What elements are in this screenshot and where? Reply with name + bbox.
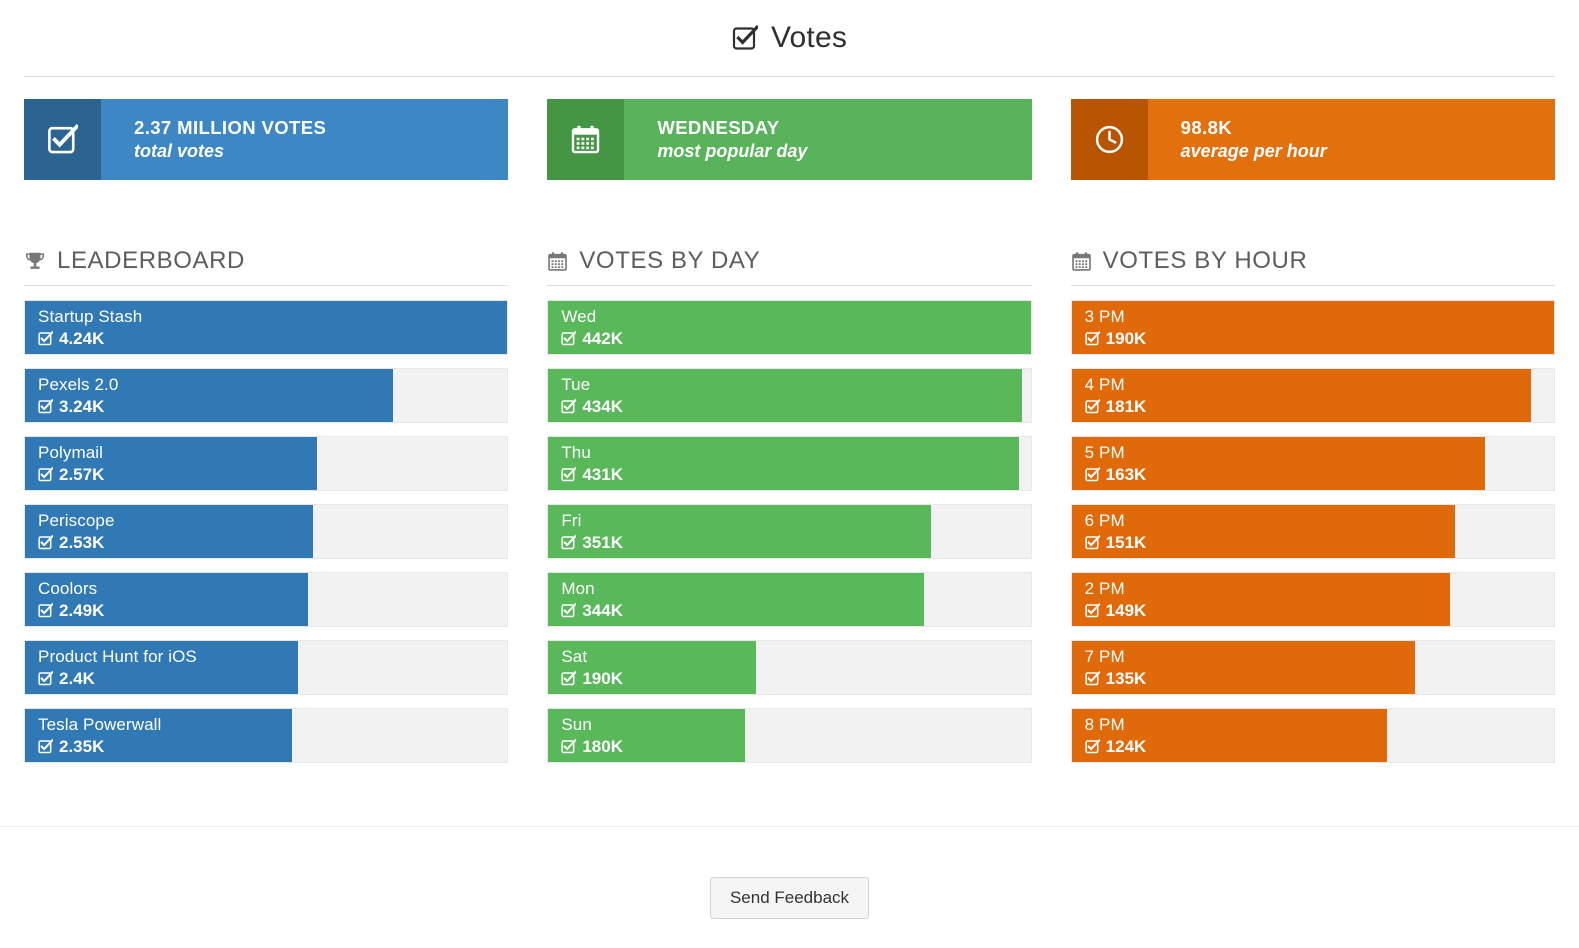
- bar-label: Polymail: [38, 442, 104, 463]
- bar-value: 163K: [1085, 464, 1147, 485]
- bar-value: 2.4K: [38, 668, 197, 689]
- charts-row: LEADERBOARD Startup Stash4.24KPexels 2.0…: [0, 202, 1579, 776]
- bar-value-text: 351K: [582, 532, 623, 553]
- checkbox-checked-icon: [38, 399, 53, 414]
- section-heading-votes-by-hour: VOTES BY HOUR: [1071, 247, 1555, 285]
- bar-text: Pexels 2.03.24K: [38, 369, 118, 422]
- checkbox-checked-icon: [1085, 535, 1100, 550]
- stat-label: total votes: [134, 140, 508, 163]
- trophy-icon: [24, 250, 46, 272]
- leaderboard-bar-row[interactable]: Pexels 2.03.24K: [24, 368, 508, 423]
- stat-card-average-per-hour: 98.8K average per hour: [1071, 99, 1555, 180]
- bar-value-text: 135K: [1106, 668, 1147, 689]
- bar-label: Fri: [561, 510, 623, 531]
- bar-label: Thu: [561, 442, 623, 463]
- bar-label: 3 PM: [1085, 306, 1147, 327]
- leaderboard-column: LEADERBOARD Startup Stash4.24KPexels 2.0…: [24, 202, 508, 776]
- checkbox-checked-icon: [561, 535, 576, 550]
- checkbox-checked-icon: [38, 467, 53, 482]
- bar-value-text: 151K: [1106, 532, 1147, 553]
- bar-label: 6 PM: [1085, 510, 1147, 531]
- bar-value: 2.57K: [38, 464, 104, 485]
- section-title: VOTES BY DAY: [579, 247, 760, 275]
- stat-label: most popular day: [657, 140, 1031, 163]
- checkbox-checked-icon: [561, 739, 576, 754]
- section-divider: [24, 285, 508, 286]
- bar-label: Wed: [561, 306, 623, 327]
- bar-value-text: 3.24K: [59, 396, 104, 417]
- checkbox-checked-icon: [38, 603, 53, 618]
- checkbox-checked-icon: [1085, 671, 1100, 686]
- bar-value-text: 2.35K: [59, 736, 104, 757]
- votes-by-hour-bar-row[interactable]: 4 PM181K: [1071, 368, 1555, 423]
- checkbox-checked-icon: [1085, 399, 1100, 414]
- stat-card-column-hour: 98.8K average per hour: [1071, 99, 1555, 180]
- bar-value-text: 2.49K: [59, 600, 104, 621]
- bar-value: 3.24K: [38, 396, 118, 417]
- bar-text: 5 PM163K: [1085, 437, 1147, 490]
- stat-card-popular-day: WEDNESDAY most popular day: [547, 99, 1031, 180]
- checkbox-checked-icon: [1085, 603, 1100, 618]
- bar-value-text: 180K: [582, 736, 623, 757]
- votes-by-hour-bar-row[interactable]: 6 PM151K: [1071, 504, 1555, 559]
- section-title: VOTES BY HOUR: [1103, 247, 1308, 275]
- calendar-icon: [1071, 251, 1092, 272]
- bar-value: 135K: [1085, 668, 1147, 689]
- leaderboard-bar-row[interactable]: Startup Stash4.24K: [24, 300, 508, 355]
- leaderboard-bar-row[interactable]: Product Hunt for iOS2.4K: [24, 640, 508, 695]
- section-title: LEADERBOARD: [57, 247, 245, 275]
- bar-label: Pexels 2.0: [38, 374, 118, 395]
- bar-label: Sun: [561, 714, 623, 735]
- bar-value: 431K: [561, 464, 623, 485]
- bar-value-text: 181K: [1106, 396, 1147, 417]
- checkbox-checked-icon: [1085, 467, 1100, 482]
- bar-text: 4 PM181K: [1085, 369, 1147, 422]
- bar-text: Sun180K: [561, 709, 623, 762]
- votes-by-day-bar-row[interactable]: Thu431K: [547, 436, 1031, 491]
- bar-value: 4.24K: [38, 328, 142, 349]
- bar-text: Product Hunt for iOS2.4K: [38, 641, 197, 694]
- bar-text: Startup Stash4.24K: [38, 301, 142, 354]
- bar-value: 149K: [1085, 600, 1147, 621]
- bar-value: 181K: [1085, 396, 1147, 417]
- footer: Send Feedback: [0, 877, 1579, 919]
- bar-label: 8 PM: [1085, 714, 1147, 735]
- bar-value-text: 190K: [1106, 328, 1147, 349]
- stat-card-column-total: 2.37 MILLION VOTES total votes: [24, 99, 508, 180]
- stat-cards-row: 2.37 MILLION VOTES total votes: [0, 99, 1579, 180]
- bar-text: 6 PM151K: [1085, 505, 1147, 558]
- checkbox-checked-icon: [561, 331, 576, 346]
- votes-by-day-bar-list: Wed442KTue434KThu431KFri351KMon344KSat19…: [547, 300, 1031, 763]
- checkbox-checked-icon: [561, 467, 576, 482]
- votes-by-day-bar-row[interactable]: Sat190K: [547, 640, 1031, 695]
- bar-label: Mon: [561, 578, 623, 599]
- bar-label: 4 PM: [1085, 374, 1147, 395]
- checkbox-checked-icon: [561, 399, 576, 414]
- stat-label: average per hour: [1181, 140, 1555, 163]
- checkbox-checked-icon: [38, 739, 53, 754]
- clock-icon: [1071, 99, 1148, 180]
- bar-text: Coolors2.49K: [38, 573, 104, 626]
- bar-value-text: 190K: [582, 668, 623, 689]
- votes-by-hour-bar-row[interactable]: 2 PM149K: [1071, 572, 1555, 627]
- checkbox-checked-icon: [38, 535, 53, 550]
- section-divider: [1071, 285, 1555, 286]
- votes-by-day-bar-row[interactable]: Fri351K: [547, 504, 1031, 559]
- stat-card-total-votes: 2.37 MILLION VOTES total votes: [24, 99, 508, 180]
- votes-dashboard: Votes 2.37 MILLION VOTES total votes: [0, 0, 1579, 948]
- calendar-icon: [547, 251, 568, 272]
- bar-value: 351K: [561, 532, 623, 553]
- votes-by-hour-column: VOTES BY HOUR 3 PM190K4 PM181K5 PM163K6 …: [1071, 202, 1555, 776]
- leaderboard-bar-row[interactable]: Polymail2.57K: [24, 436, 508, 491]
- section-divider: [547, 285, 1031, 286]
- checkbox-checked-icon: [38, 671, 53, 686]
- bar-label: 5 PM: [1085, 442, 1147, 463]
- bar-text: 2 PM149K: [1085, 573, 1147, 626]
- bar-text: Periscope2.53K: [38, 505, 115, 558]
- bar-label: Tesla Powerwall: [38, 714, 161, 735]
- bar-value: 434K: [561, 396, 623, 417]
- bar-value-text: 124K: [1106, 736, 1147, 757]
- bar-value: 190K: [561, 668, 623, 689]
- bar-value: 442K: [561, 328, 623, 349]
- votes-by-day-bar-row[interactable]: Mon344K: [547, 572, 1031, 627]
- page-title-text: Votes: [771, 21, 847, 55]
- page-title: Votes: [732, 21, 847, 55]
- bar-value-text: 163K: [1106, 464, 1147, 485]
- stat-value: 98.8K: [1181, 116, 1555, 140]
- bar-value-text: 344K: [582, 600, 623, 621]
- bar-value: 180K: [561, 736, 623, 757]
- section-heading-votes-by-day: VOTES BY DAY: [547, 247, 1031, 285]
- leaderboard-bar-list: Startup Stash4.24KPexels 2.03.24KPolymai…: [24, 300, 508, 763]
- checkbox-checked-icon: [561, 603, 576, 618]
- stat-card-body: WEDNESDAY most popular day: [624, 99, 1031, 180]
- bar-label: 7 PM: [1085, 646, 1147, 667]
- bar-text: 8 PM124K: [1085, 709, 1147, 762]
- bar-value: 2.35K: [38, 736, 161, 757]
- votes-by-hour-bar-row[interactable]: 8 PM124K: [1071, 708, 1555, 763]
- stat-card-body: 98.8K average per hour: [1148, 99, 1555, 180]
- checkbox-checked-icon: [561, 671, 576, 686]
- send-feedback-button[interactable]: Send Feedback: [710, 877, 869, 919]
- stat-card-column-day: WEDNESDAY most popular day: [547, 99, 1031, 180]
- bar-text: Mon344K: [561, 573, 623, 626]
- votes-by-day-bar-row[interactable]: Tue434K: [547, 368, 1031, 423]
- bar-text: Wed442K: [561, 301, 623, 354]
- leaderboard-bar-row[interactable]: Tesla Powerwall2.35K: [24, 708, 508, 763]
- footer-divider: [0, 826, 1579, 827]
- bar-value-text: 2.57K: [59, 464, 104, 485]
- leaderboard-bar-row[interactable]: Coolors2.49K: [24, 572, 508, 627]
- bar-value: 2.53K: [38, 532, 115, 553]
- bar-label: Tue: [561, 374, 623, 395]
- bar-value: 2.49K: [38, 600, 104, 621]
- bar-label: Periscope: [38, 510, 115, 531]
- votes-by-day-column: VOTES BY DAY Wed442KTue434KThu431KFri351…: [547, 202, 1031, 776]
- bar-text: Fri351K: [561, 505, 623, 558]
- bar-text: 3 PM190K: [1085, 301, 1147, 354]
- bar-label: Coolors: [38, 578, 104, 599]
- bar-value: 124K: [1085, 736, 1147, 757]
- bar-value-text: 2.53K: [59, 532, 104, 553]
- bar-value: 190K: [1085, 328, 1147, 349]
- votes-by-day-bar-row[interactable]: Sun180K: [547, 708, 1031, 763]
- bar-value-text: 2.4K: [59, 668, 95, 689]
- checkbox-checked-icon: [24, 99, 101, 180]
- votes-by-hour-bar-list: 3 PM190K4 PM181K5 PM163K6 PM151K2 PM149K…: [1071, 300, 1555, 763]
- bar-value-text: 149K: [1106, 600, 1147, 621]
- stat-card-body: 2.37 MILLION VOTES total votes: [101, 99, 508, 180]
- bar-text: 7 PM135K: [1085, 641, 1147, 694]
- bar-text: Thu431K: [561, 437, 623, 490]
- bar-text: Tesla Powerwall2.35K: [38, 709, 161, 762]
- votes-by-hour-bar-row[interactable]: 5 PM163K: [1071, 436, 1555, 491]
- checkbox-checked-icon: [732, 25, 758, 51]
- section-heading-leaderboard: LEADERBOARD: [24, 247, 508, 285]
- checkbox-checked-icon: [1085, 739, 1100, 754]
- bar-label: Startup Stash: [38, 306, 142, 327]
- checkbox-checked-icon: [1085, 331, 1100, 346]
- bar-text: Polymail2.57K: [38, 437, 104, 490]
- bar-value-text: 434K: [582, 396, 623, 417]
- stat-value: WEDNESDAY: [657, 116, 1031, 140]
- calendar-icon: [547, 99, 624, 180]
- page-header: Votes: [0, 0, 1579, 76]
- votes-by-hour-bar-row[interactable]: 7 PM135K: [1071, 640, 1555, 695]
- bar-label: Sat: [561, 646, 623, 667]
- bar-value: 344K: [561, 600, 623, 621]
- bar-text: Tue434K: [561, 369, 623, 422]
- stat-value: 2.37 MILLION VOTES: [134, 116, 508, 140]
- bar-value-text: 442K: [582, 328, 623, 349]
- bar-text: Sat190K: [561, 641, 623, 694]
- bar-value-text: 4.24K: [59, 328, 104, 349]
- header-divider: [24, 76, 1555, 77]
- bar-label: Product Hunt for iOS: [38, 646, 197, 667]
- votes-by-day-bar-row[interactable]: Wed442K: [547, 300, 1031, 355]
- leaderboard-bar-row[interactable]: Periscope2.53K: [24, 504, 508, 559]
- bar-value: 151K: [1085, 532, 1147, 553]
- checkbox-checked-icon: [38, 331, 53, 346]
- bar-value-text: 431K: [582, 464, 623, 485]
- bar-label: 2 PM: [1085, 578, 1147, 599]
- votes-by-hour-bar-row[interactable]: 3 PM190K: [1071, 300, 1555, 355]
